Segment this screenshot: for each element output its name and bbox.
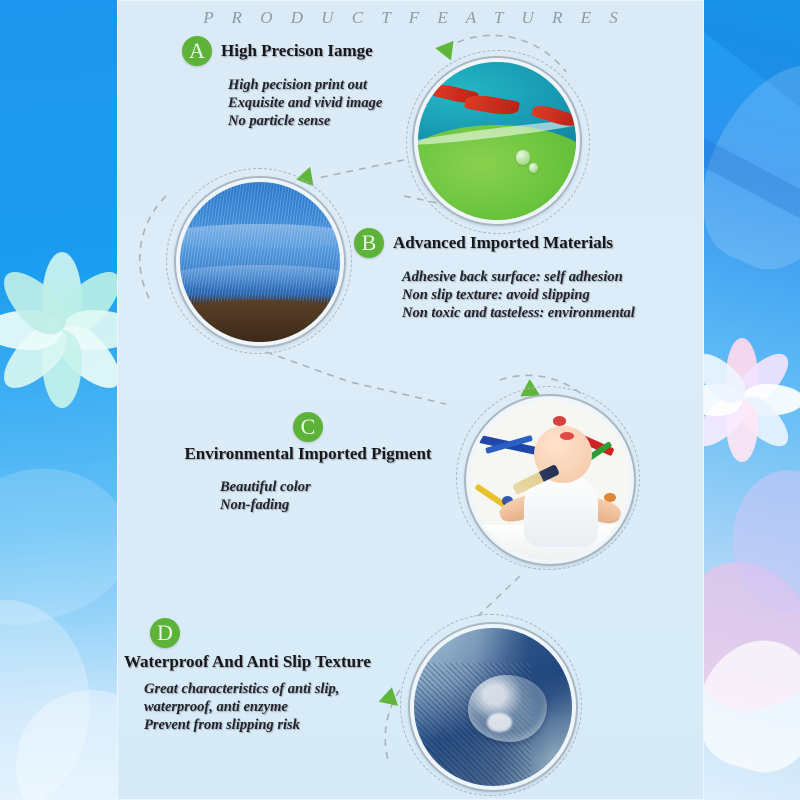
feature-b: B Advanced Imported Materials Adhesive b… xyxy=(354,228,635,322)
feature-a-lines: High pecision print out Exquisite and vi… xyxy=(228,76,382,130)
feature-a-line-1: High pecision print out xyxy=(228,76,382,94)
feature-a-badge: A xyxy=(182,36,212,66)
feature-a-line-3: No particle sense xyxy=(228,112,382,130)
left-decorative-margin xyxy=(0,0,120,800)
feature-c-line-2: Non-fading xyxy=(220,496,464,514)
feature-c-line-1: Beautiful color xyxy=(220,478,464,496)
feature-d-line-3: Prevent from slipping risk xyxy=(144,716,371,734)
feature-b-lines: Adhesive back surface: self adhesion Non… xyxy=(402,268,635,322)
feature-b-header: B Advanced Imported Materials xyxy=(354,228,635,258)
feature-c-lines: Beautiful color Non-fading xyxy=(220,478,464,514)
feature-b-badge: B xyxy=(354,228,384,258)
feature-c-title: Environmental Imported Pigment xyxy=(152,444,464,464)
feature-a-header: A High Precison Iamge xyxy=(182,36,382,66)
feature-d-lines: Great characteristics of anti slip, wate… xyxy=(144,680,371,734)
feature-a-title: High Precison Iamge xyxy=(221,41,373,61)
feature-d-line-2: waterproof, anti enzyme xyxy=(144,698,371,716)
feature-a-line-2: Exquisite and vivid image xyxy=(228,94,382,112)
page-title: P R O D U C T F E A T U R E S xyxy=(117,8,704,28)
feature-b-line-3: Non toxic and tasteless: environmental xyxy=(402,304,635,322)
feature-a: A High Precison Iamge High pecision prin… xyxy=(182,36,382,130)
photo-water-droplet xyxy=(410,624,576,790)
feature-c-header: C Environmental Imported Pigment xyxy=(152,412,464,464)
photo-painting-baby xyxy=(466,396,634,564)
photo-koi-lotus xyxy=(414,58,580,224)
right-decorative-margin xyxy=(696,0,800,800)
feature-d-badge: D xyxy=(150,618,180,648)
feature-b-line-2: Non slip texture: avoid slipping xyxy=(402,286,635,304)
feature-c-badge: C xyxy=(293,412,323,442)
feature-d: D Waterproof And Anti Slip Texture Great… xyxy=(124,618,371,734)
feature-b-line-1: Adhesive back surface: self adhesion xyxy=(402,268,635,286)
feature-b-title: Advanced Imported Materials xyxy=(393,233,613,253)
photo-blue-fabric xyxy=(176,178,344,346)
feature-c: C Environmental Imported Pigment Beautif… xyxy=(152,412,464,514)
feature-d-title: Waterproof And Anti Slip Texture xyxy=(124,652,371,672)
product-features-infographic: P R O D U C T F E A T U R E S A High Pre… xyxy=(0,0,800,800)
feature-d-header: D Waterproof And Anti Slip Texture xyxy=(124,618,371,672)
feature-d-line-1: Great characteristics of anti slip, xyxy=(144,680,371,698)
